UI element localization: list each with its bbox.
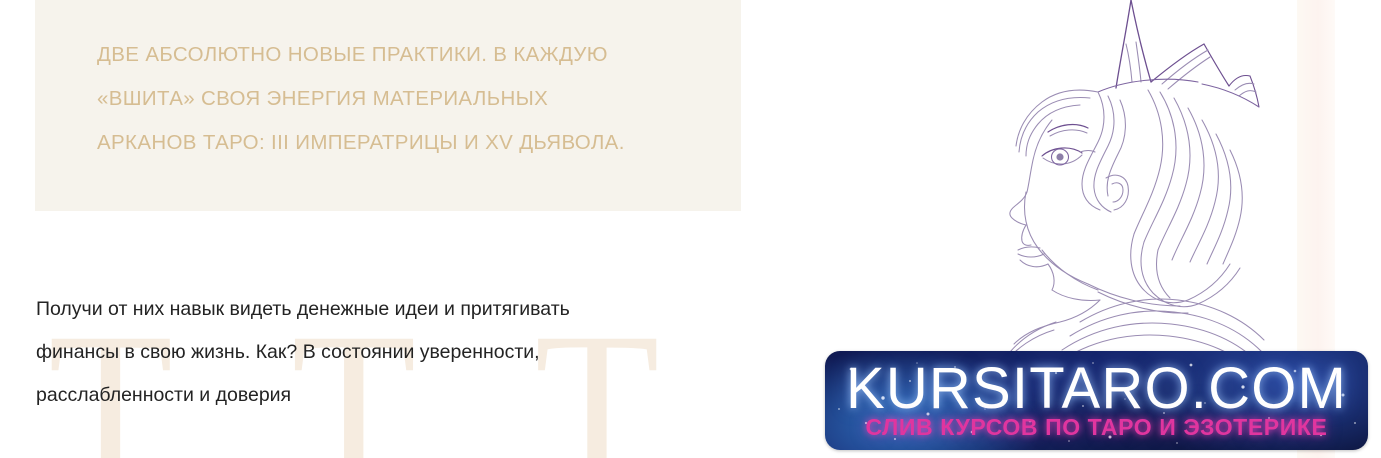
callout-text-block: ДВЕ АБСОЛЮТНО НОВЫЕ ПРАКТИКИ. В КАЖДУЮ «… xyxy=(97,33,717,165)
highlight-callout-box: ДВЕ АБСОЛЮТНО НОВЫЕ ПРАКТИКИ. В КАЖДУЮ «… xyxy=(35,0,741,211)
kursitaro-watermark-banner: KURSITARO.COM СЛИВ КУРСОВ ПО ТАРО И ЭЗОТ… xyxy=(825,351,1368,450)
watermark-title: KURSITARO.COM xyxy=(825,355,1368,422)
callout-line-2: «ВШИТА» СВОЯ ЭНЕРГИЯ МАТЕРИАЛЬНЫХ xyxy=(97,77,717,121)
callout-line-1: ДВЕ АБСОЛЮТНО НОВЫЕ ПРАКТИКИ. В КАЖДУЮ xyxy=(97,33,717,77)
watermark-subtitle: СЛИВ КУРСОВ ПО ТАРО И ЭЗОТЕРИКЕ xyxy=(825,414,1368,441)
woman-profile-crown-illustration xyxy=(930,0,1350,372)
callout-line-3: АРКАНОВ ТАРО: III ИМПЕРАТРИЦЫ И XV ДЬЯВО… xyxy=(97,121,717,165)
body-line-3: расслабленности и доверия xyxy=(36,374,716,417)
body-line-1: Получи от них навык видеть денежные идеи… xyxy=(36,288,716,331)
slide-canvas: TTT ДВЕ АБСОЛЮТНО НОВЫЕ ПРАКТИКИ. В КАЖД… xyxy=(0,0,1381,458)
body-paragraph: Получи от них навык видеть денежные идеи… xyxy=(36,288,716,417)
body-line-2: финансы в свою жизнь. Как? В состоянии у… xyxy=(36,331,716,374)
